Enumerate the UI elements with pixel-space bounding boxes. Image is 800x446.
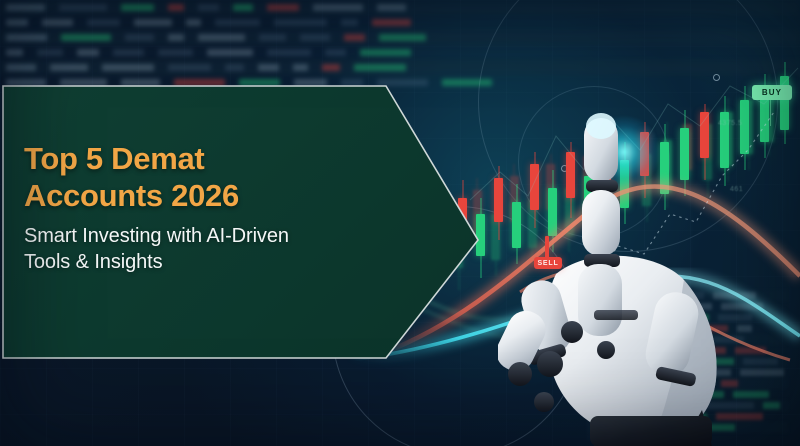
page-subtitle: Smart Investing with AI-Driven Tools & I… [24,223,424,275]
knuckle-joint [597,341,615,359]
page-title: Top 5 Demat Accounts 2026 [24,140,424,214]
buy-tag-stem [770,100,771,126]
subhead-line-1: Smart Investing with AI-Driven [24,225,289,247]
headline-panel: Top 5 Demat Accounts 2026 Smart Investin… [0,78,492,370]
index-finger [578,113,622,336]
wrist-cuff [590,416,712,446]
headline-line-1: Top 5 Demat [24,141,204,176]
robotic-hand [498,96,778,446]
subhead-line-2: Tools & Insights [24,251,162,273]
headline-line-2: Accounts 2026 [24,178,239,213]
knuckle-joint [534,392,554,412]
sell-tag: SELL [534,257,562,269]
finger-band [594,310,638,320]
panel-text-block: Top 5 Demat Accounts 2026 Smart Investin… [24,140,424,275]
banner-root: 4375.5 461 F63 [0,0,800,446]
buy-tag: BUY [752,85,792,100]
knuckle-joint [561,321,583,343]
